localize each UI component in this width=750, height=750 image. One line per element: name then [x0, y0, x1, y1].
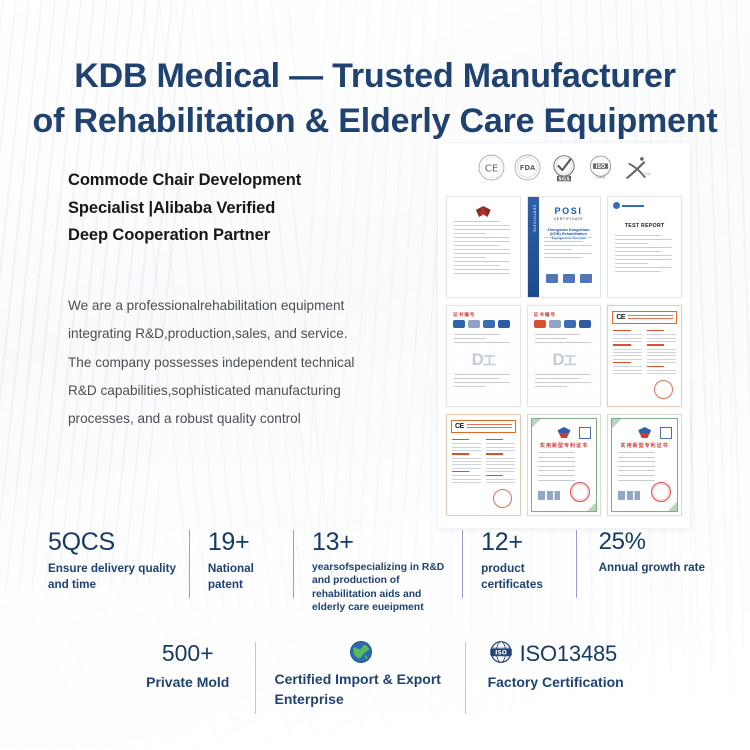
certificate-columns [613, 330, 676, 376]
certificate-columns [452, 439, 515, 485]
stat-patents-number: 19+ [208, 528, 282, 557]
stat-qcs-number: 5QCS [48, 528, 178, 557]
subheading-line-3: Deep Cooperation Partner [68, 222, 428, 250]
patent-red-seal [651, 482, 671, 502]
patent-qr-box [579, 427, 591, 439]
certification-badge-row: CE FDA SGS [438, 143, 690, 194]
ce-mark-icon: CE [455, 423, 464, 430]
iso-code-label: ISO13485 [520, 642, 617, 666]
patent-qr-box [660, 427, 672, 439]
posi-subtitle-label: CERTIFICATE [542, 217, 596, 221]
svg-text:13485: 13485 [595, 175, 605, 179]
subheading-line-2: Specialist |Alibaba Verified [68, 195, 428, 223]
stat-growth: 25% Annual growth rate [577, 528, 708, 576]
ce-mark-icon: CE [616, 314, 625, 321]
statistics-row: 5QCS Ensure delivery quality and time 19… [48, 528, 708, 614]
stat-growth-number: 25% [599, 528, 708, 556]
certificate-watermark: D工 [552, 350, 575, 370]
subheading-line-1: Commode Chair Development [68, 167, 428, 195]
test-report-logo [613, 202, 644, 209]
stat-certs-label: product certificates [481, 561, 564, 593]
certificate-text-lines [535, 374, 594, 390]
body-line-4: R&D capabilities,sophisticated manufactu… [68, 377, 418, 405]
cn-patent-certificate-1: 实用新型专利证书 [527, 414, 602, 516]
body-line-2: integrating R&D,production,sales, and se… [68, 320, 418, 348]
patent-signature [618, 491, 640, 500]
certificate-text-lines [454, 374, 513, 390]
eagle-certificate [446, 196, 521, 298]
body-paragraph: We are a professionalrehabilitation equi… [68, 292, 418, 433]
stat-qcs-label: Ensure delivery quality and time [48, 561, 178, 593]
certificate-stamp [654, 380, 673, 399]
certificate-sidebar-text: CERTIFICATE [530, 205, 537, 232]
patent-title: 实用新型专利证书 [534, 442, 595, 449]
certificate-stamp [493, 489, 512, 508]
certificate-grid: CERTIFICATE POSI CERTIFICATE Zhongshan K… [438, 194, 690, 524]
svg-text:SGS: SGS [558, 176, 570, 181]
stat-growth-label: Annual growth rate [599, 560, 708, 576]
iso-certification-label: Factory Certification [488, 674, 655, 690]
certificate-text-lines [454, 334, 513, 346]
certificate-sidebar: CERTIFICATE [528, 197, 539, 297]
banner-root: KDB Medical — Trusted Manufacturer of Re… [0, 0, 750, 750]
stat-years-number: 13+ [312, 528, 451, 557]
cn-registration-certificate-2: 证书编号 D工 [527, 305, 602, 407]
certificate-panel: CE FDA SGS [438, 143, 690, 528]
page-title-line-1: KDB Medical — Trusted Manufacturer [74, 57, 676, 95]
fda-badge-icon: FDA [514, 154, 541, 186]
sgs-badge-icon: SGS [550, 154, 578, 187]
certificate-logo-row [453, 320, 514, 328]
body-line-1: We are a professionalrehabilitation equi… [68, 292, 418, 320]
ce-declaration-header: CE [451, 420, 516, 433]
body-line-5: processes, and a robust quality control [68, 405, 418, 433]
certificate-logo-row [534, 320, 595, 328]
certificate-text-lines [544, 237, 595, 261]
certificate-text-lines [615, 235, 674, 275]
posi-seal-row [544, 274, 595, 283]
highlight-import-export: Certified Import & Export Enterprise [256, 640, 465, 710]
svg-text:CQC: CQC [644, 172, 651, 176]
highlight-iso-certification: ISO ISO13485 Factory Certification [466, 640, 655, 690]
certificate-top-label: 证书编号 [453, 312, 475, 318]
patent-title: 实用新型专利证书 [614, 442, 675, 449]
cn-registration-certificate-1: 证书编号 D工 [446, 305, 521, 407]
stat-years: 13+ yearsofspecializing in R&D and produ… [294, 528, 463, 614]
test-report-title: TEST REPORT [614, 223, 675, 229]
bottom-highlights-row: 500+ Private Mold Certified Import & Exp… [135, 640, 655, 710]
certificate-top-label: 证书编号 [534, 312, 556, 318]
subheading: Commode Chair Development Specialist |Al… [68, 167, 428, 250]
svg-text:CE: CE [484, 164, 497, 175]
ce-declaration-header: CE [612, 311, 677, 324]
figure-badge-icon: CQC [623, 154, 651, 187]
iso-code-row: ISO ISO13485 [488, 640, 655, 669]
certificate-text-lines [454, 221, 513, 277]
posi-certificate: CERTIFICATE POSI CERTIFICATE Zhongshan K… [527, 196, 602, 298]
test-report-certificate: TEST REPORT [607, 196, 682, 298]
cn-patent-certificate-2: 实用新型专利证书 [607, 414, 682, 516]
import-export-label: Certified Import & Export Enterprise [272, 669, 449, 710]
certificate-watermark: D工 [472, 350, 495, 370]
highlight-private-mold: 500+ Private Mold [135, 640, 256, 690]
stat-certs: 12+ product certificates [463, 528, 576, 593]
svg-text:ISO: ISO [595, 164, 606, 170]
stat-patents-label: National patent [208, 561, 282, 593]
private-mold-number: 500+ [135, 640, 240, 668]
posi-brand-label: POSI [542, 206, 596, 216]
eagle-crest-icon [476, 206, 491, 217]
ce-declaration-certificate-1: CE [607, 305, 682, 407]
certificate-text-lines [618, 452, 671, 484]
certificate-text-lines [535, 334, 594, 346]
svg-text:FDA: FDA [519, 164, 535, 172]
page-title-line-2: of Rehabilitation & Elderly Care Equipme… [24, 99, 726, 144]
body-line-3: The company possesses independent techni… [68, 349, 418, 377]
iso-badge-icon: ISO 13485 [587, 154, 614, 186]
page-title: KDB Medical — Trusted Manufacturer of Re… [0, 54, 750, 144]
stat-patents: 19+ National patent [190, 528, 294, 593]
stat-qcs: 5QCS Ensure delivery quality and time [48, 528, 190, 593]
stat-years-label: yearsofspecializing in R&D and productio… [312, 561, 451, 615]
ce-badge-icon: CE [478, 154, 505, 186]
iso-globe-icon: ISO [488, 640, 514, 669]
private-mold-label: Private Mold [135, 674, 240, 690]
certificate-text-lines [538, 452, 591, 484]
svg-text:ISO: ISO [495, 650, 507, 657]
globe-icon [272, 640, 449, 664]
patent-signature [538, 491, 560, 500]
ce-declaration-certificate-2: CE [446, 414, 521, 516]
stat-certs-number: 12+ [481, 528, 564, 557]
